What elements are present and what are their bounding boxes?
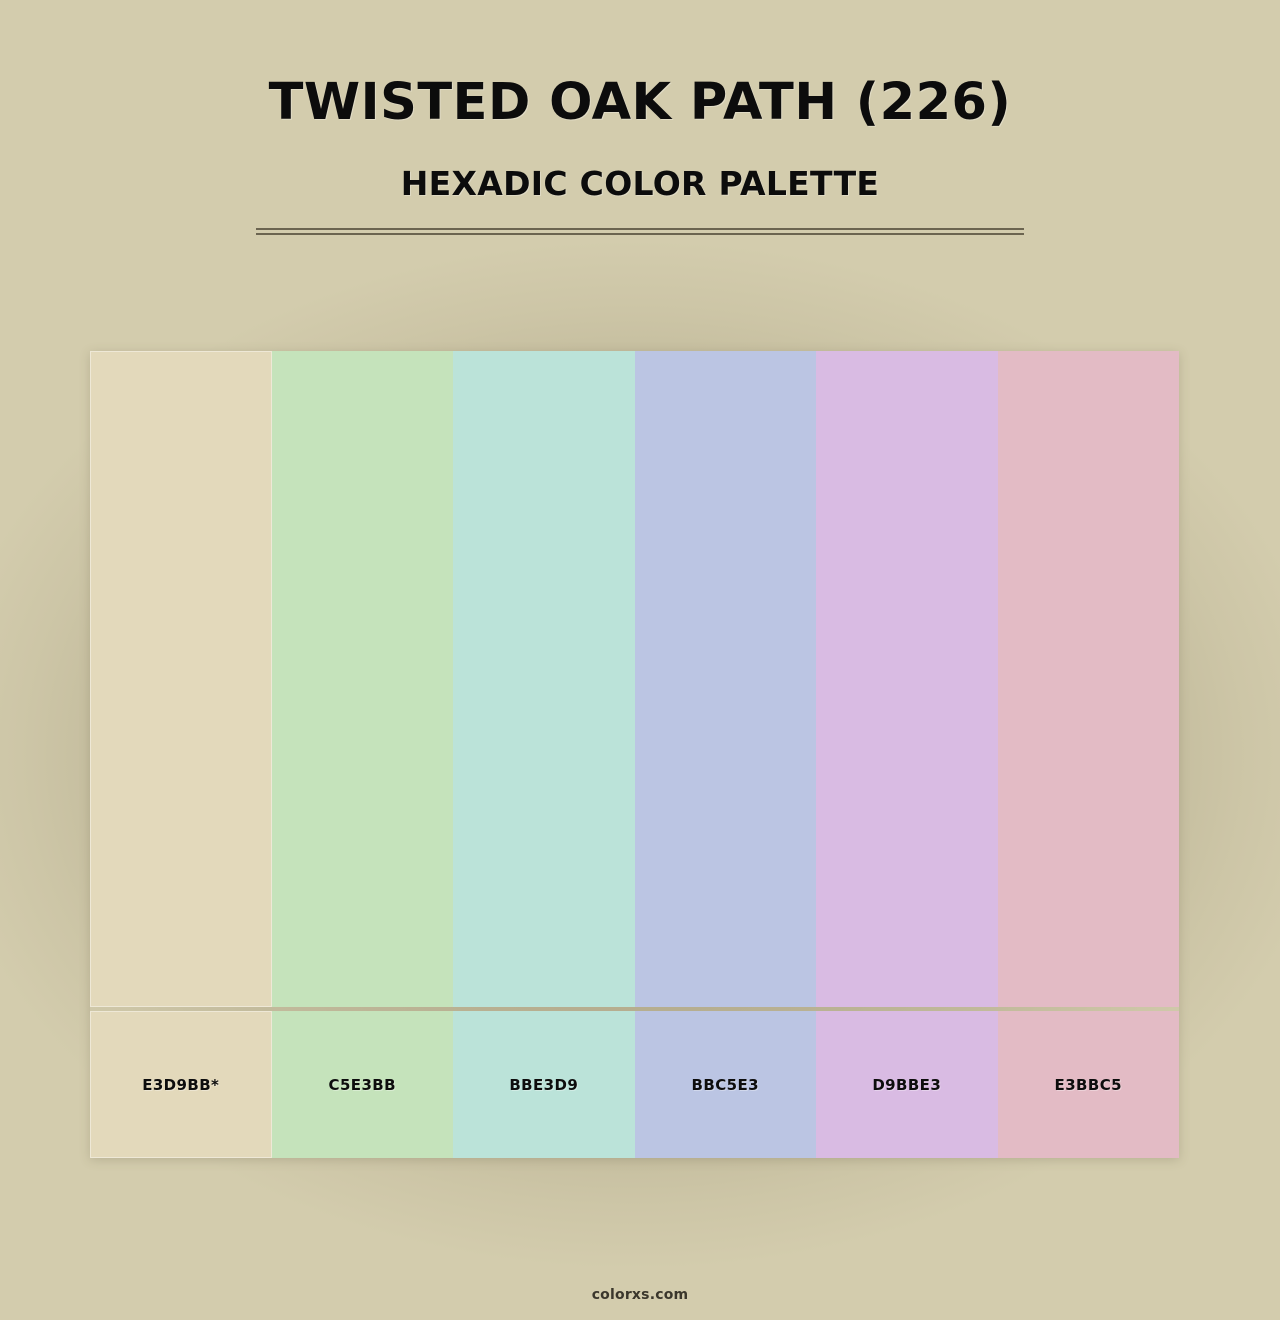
color-swatch-label-cell[interactable]: C5E3BB	[272, 1011, 454, 1158]
swatch-label-strip: E3D9BB*C5E3BBBBE3D9BBC5E3D9BBE3E3BBC5	[90, 1011, 1179, 1158]
footer: colorxs.com	[0, 1284, 1280, 1303]
color-swatch-label-cell[interactable]: D9BBE3	[816, 1011, 998, 1158]
color-swatch-label-cell[interactable]: BBC5E3	[635, 1011, 817, 1158]
page-title: TWISTED OAK PATH (226)	[0, 72, 1280, 134]
color-hex-label: BBE3D9	[509, 1076, 578, 1094]
color-swatch[interactable]	[90, 351, 272, 1007]
color-hex-label: E3BBC5	[1055, 1076, 1122, 1094]
color-palette: E3D9BB*C5E3BBBBE3D9BBC5E3D9BBE3E3BBC5	[90, 351, 1179, 1158]
swatch-strip	[90, 351, 1179, 1007]
page-subtitle: HEXADIC COLOR PALETTE	[0, 163, 1280, 205]
site-credit: colorxs.com	[592, 1287, 689, 1303]
color-swatch[interactable]	[816, 351, 998, 1007]
color-hex-label: E3D9BB*	[142, 1076, 219, 1094]
divider-line-top	[256, 228, 1024, 230]
color-swatch-label-cell[interactable]: BBE3D9	[453, 1011, 635, 1158]
color-swatch[interactable]	[453, 351, 635, 1007]
color-swatch[interactable]	[272, 351, 454, 1007]
color-hex-label: BBC5E3	[692, 1076, 759, 1094]
color-hex-label: C5E3BB	[329, 1076, 396, 1094]
color-swatch-label-cell[interactable]: E3BBC5	[998, 1011, 1180, 1158]
color-swatch-label-cell[interactable]: E3D9BB*	[90, 1011, 272, 1158]
header-divider	[256, 228, 1024, 237]
color-swatch[interactable]	[998, 351, 1180, 1007]
color-hex-label: D9BBE3	[872, 1076, 941, 1094]
color-swatch[interactable]	[635, 351, 817, 1007]
divider-line-bottom	[256, 233, 1024, 235]
palette-page: TWISTED OAK PATH (226) HEXADIC COLOR PAL…	[0, 0, 1280, 1320]
